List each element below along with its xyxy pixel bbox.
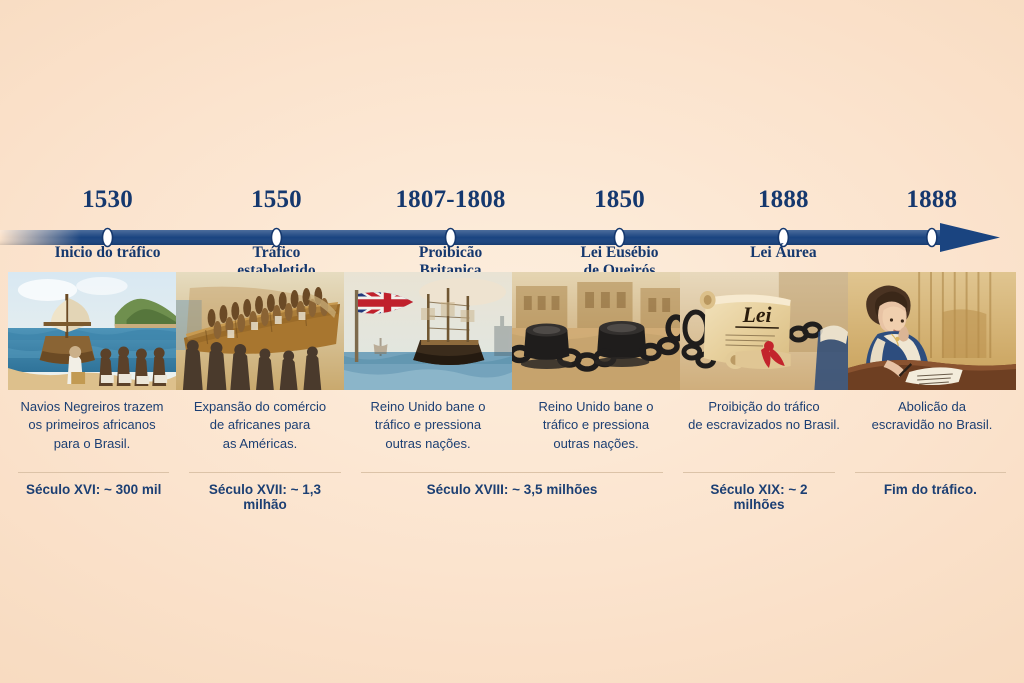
milestone-description-3: Reino Unido bane o tráfico e pressiona o… (512, 398, 680, 464)
sailing-ship-coast-illustration (8, 272, 176, 390)
timeline-infographic: 153015501807-1808185018881888 Inicio do … (0, 0, 1024, 683)
union-jack-flag-ship-illustration (344, 272, 512, 390)
illustration-strip: Lei (8, 272, 1016, 390)
description-row: Navios Negreiros trazem os primeiros afr… (8, 398, 1016, 464)
milestone-stat-2: Século XVIII: ~ 3,5 milhões (361, 472, 664, 502)
milestone-description-1: Expansão do comércio de africanes para a… (176, 398, 344, 464)
statistics-row: Século XVI: ~ 300 milSéculo XVII: ~ 1,3 … (8, 472, 1016, 502)
milestone-description-0: Navios Negreiros trazem os primeiros afr… (8, 398, 176, 464)
year-label-3: 1850 (594, 186, 645, 214)
year-label-1: 1550 (251, 186, 302, 214)
year-label-2: 1807-1808 (395, 186, 505, 214)
milestone-description-2: Reino Unido bane o tráfico e pressiona o… (344, 398, 512, 464)
milestone-stat-1: Século XVII: ~ 1,3 milhão (189, 472, 340, 502)
milestone-description-4: Proibição do tráfico de escravizados no … (680, 398, 848, 464)
year-label-5: 1888 (906, 186, 957, 214)
law-scroll-illustration: Lei (680, 272, 848, 390)
milestone-subtitle-0: Inicio do tráfico (55, 244, 161, 262)
milestone-stat-5: Fim do tráfico. (855, 472, 1006, 502)
milestone-subtitle-4: Lei Áurea (750, 244, 816, 262)
year-labels: 153015501807-1808185018881888 (0, 186, 1024, 220)
milestone-stat-4: Século XIX: ~ 2 milhões (683, 472, 834, 502)
year-label-4: 1888 (758, 186, 809, 214)
svg-text:Lei: Lei (742, 303, 772, 327)
year-label-0: 1530 (82, 186, 133, 214)
princess-signing-illustration (848, 272, 1016, 390)
iron-shackles-illustration (512, 272, 680, 390)
milestone-description-5: Abolicão da escravidão no Brasil. (848, 398, 1016, 464)
milestone-stat-0: Século XVI: ~ 300 mil (18, 472, 169, 502)
crowded-slave-ship-illustration (176, 272, 344, 390)
